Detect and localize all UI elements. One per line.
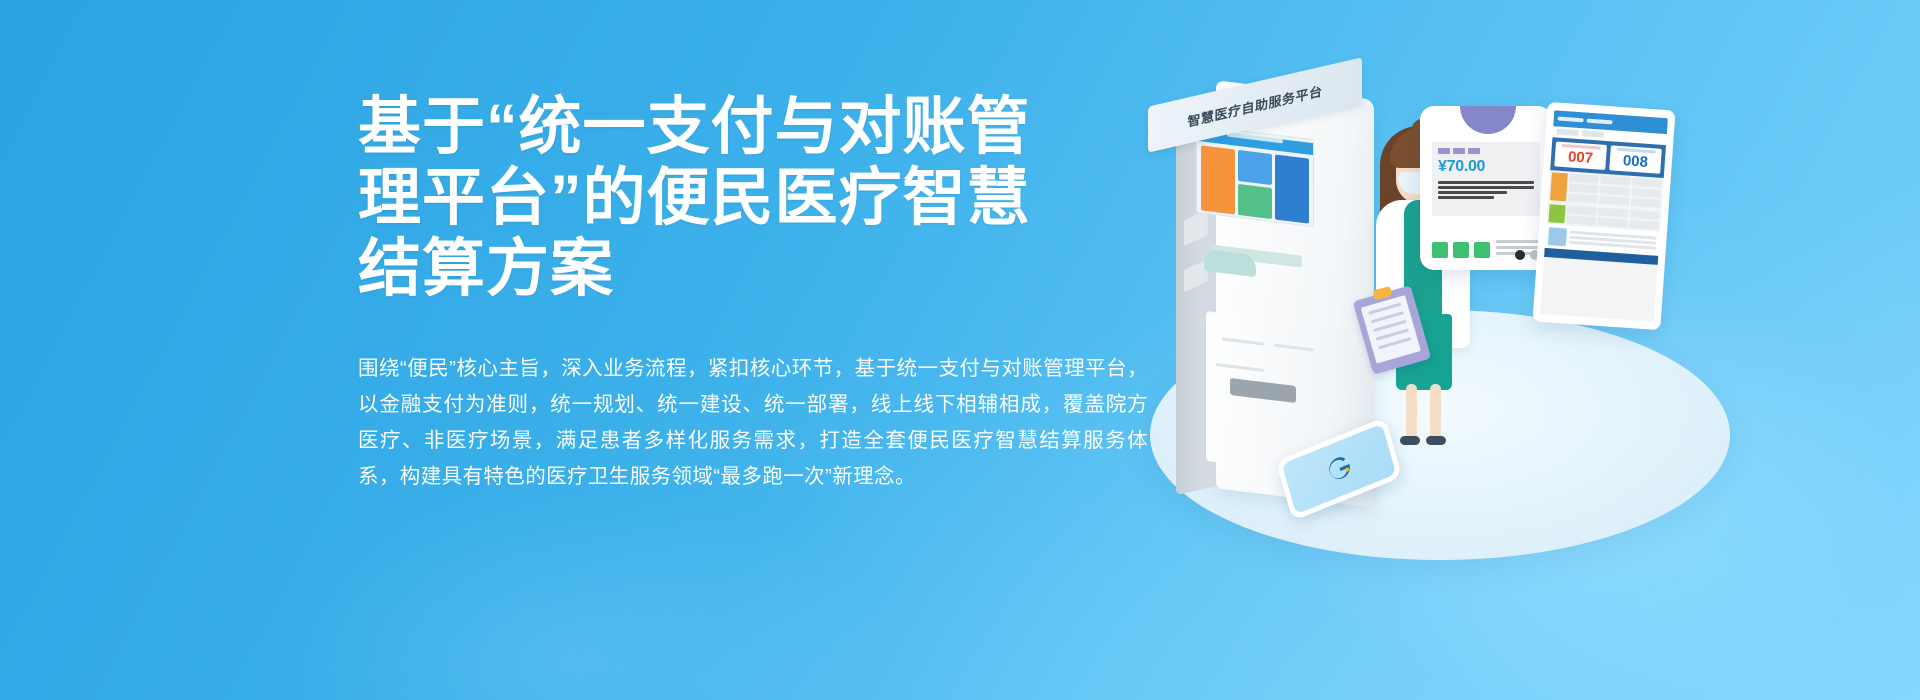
hero-copy: 基于“统一支付与对账管 理平台”的便民医疗智慧 结算方案 围绕“便民”核心主旨，… [358, 92, 1158, 495]
kiosk-screen-tiles [1197, 141, 1313, 227]
queue-board-screen: 007 008 [1540, 110, 1668, 321]
kiosk-vent-upper [1184, 209, 1208, 246]
hero-description: 围绕“便民”核心主旨，深入业务流程，紧扣核心环节，基于统一支付与对账管理平台，以… [358, 351, 1148, 495]
queue-board-footer-lines [1569, 230, 1657, 251]
doctor-leg-right [1430, 384, 1441, 442]
clipboard-paper [1361, 295, 1421, 363]
pos-amount: ¥70.00 [1438, 158, 1534, 176]
queue-display-board: 007 008 [1532, 102, 1675, 330]
queue-current-ticket: 007 [1554, 141, 1607, 169]
kiosk-tile-blue[interactable] [1238, 150, 1272, 185]
pos-keypad[interactable] [1432, 242, 1490, 258]
kiosk-screen[interactable] [1196, 125, 1314, 227]
pos-receipt: ¥70.00 [1432, 142, 1540, 216]
queue-next-ticket: 008 [1609, 145, 1662, 173]
page-title: 基于“统一支付与对账管 理平台”的便民医疗智慧 结算方案 [358, 92, 1158, 305]
queue-next-number: 008 [1609, 152, 1661, 171]
hero-illustration: 智慧医疗自助服务平台 [1120, 20, 1920, 640]
queue-current-number: 007 [1555, 148, 1607, 167]
doctor-leg-left [1406, 384, 1417, 442]
kiosk-tile-orange[interactable] [1201, 145, 1235, 214]
app-logo-icon [1323, 452, 1354, 487]
pos-receipt-lines [1438, 181, 1534, 199]
queue-board-avatar [1548, 227, 1567, 246]
doctor-shoe-right [1426, 436, 1446, 445]
doctor-shoe-left [1400, 436, 1420, 445]
pos-terminal: ¥70.00 [1420, 106, 1552, 270]
kiosk-tile-green[interactable] [1238, 184, 1272, 219]
queue-board-frame: 007 008 [1532, 102, 1675, 330]
kiosk-tile-deep-blue[interactable] [1275, 154, 1309, 223]
pos-receipt-header-blocks [1438, 148, 1534, 154]
hero-banner: 基于“统一支付与对账管 理平台”的便民医疗智慧 结算方案 围绕“便民”核心主旨，… [0, 0, 1920, 700]
